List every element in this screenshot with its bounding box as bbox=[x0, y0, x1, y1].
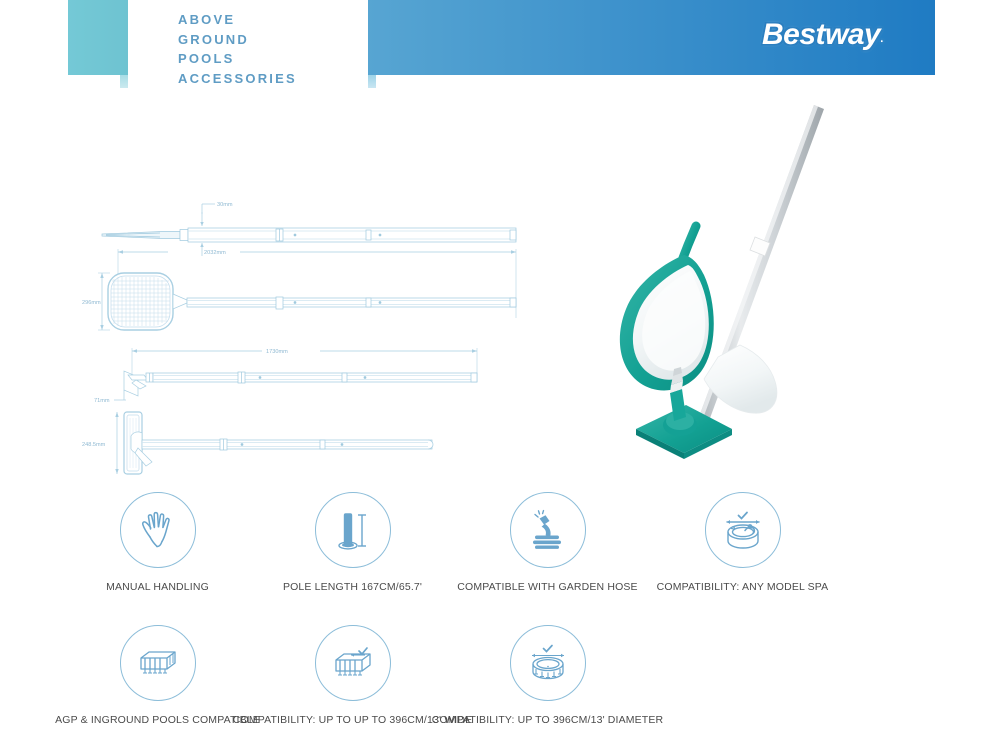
technical-drawings: 30mm 2032mm 296mm 1730mm 71mm 248.5mm bbox=[80, 190, 540, 475]
pole-length-icon bbox=[315, 492, 391, 568]
dim-label-71mm: 71mm bbox=[94, 398, 110, 404]
skimmer-net bbox=[620, 226, 714, 390]
feature-garden-hose: COMPATIBLE WITH GARDEN HOSE bbox=[450, 492, 645, 593]
hand-icon bbox=[120, 492, 196, 568]
rectangular-pool-width-icon bbox=[315, 625, 391, 701]
feature-caption: COMPATIBILITY: ANY MODEL SPA bbox=[657, 581, 829, 593]
title-line-2: GROUND bbox=[178, 30, 297, 50]
feature-caption: COMPATIBLE WITH GARDEN HOSE bbox=[457, 581, 637, 593]
drawing-vacuum-assembled bbox=[115, 412, 433, 474]
bestway-logo: Bestway. bbox=[762, 18, 912, 58]
product-spec-sheet: ABOVE GROUND POOLS ACCESSORIES Bestway. bbox=[0, 0, 1000, 750]
drawing-skimmer-folded bbox=[102, 204, 516, 256]
title-line-1: ABOVE bbox=[178, 10, 297, 30]
feature-pool-width: COMPATIBILITY: UP TO UP TO 396CM/13' WID… bbox=[255, 625, 450, 726]
feature-row-2: AGP & INGROUND POOLS COMPATIBLE bbox=[60, 625, 960, 726]
header-banner: ABOVE GROUND POOLS ACCESSORIES Bestway. bbox=[0, 0, 1000, 95]
title-line-4: ACCESSORIES bbox=[178, 69, 297, 89]
garden-hose-icon bbox=[510, 492, 586, 568]
feature-caption: AGP & INGROUND POOLS COMPATIBLE bbox=[55, 714, 260, 726]
feature-pool-diameter: COMPATIBILITY: UP TO 396CM/13' DIAMETER bbox=[450, 625, 645, 726]
product-photo bbox=[600, 95, 880, 485]
dim-label-30mm: 30mm bbox=[217, 202, 233, 208]
round-pool-diameter-icon bbox=[510, 625, 586, 701]
header-teal-band bbox=[68, 0, 128, 75]
feature-caption: POLE LENGTH 167CM/65.7' bbox=[283, 581, 422, 593]
bestway-logo-text: Bestway. bbox=[762, 18, 883, 51]
feature-pole-length: POLE LENGTH 167CM/65.7' bbox=[255, 492, 450, 593]
brand-word: Bestway bbox=[762, 18, 880, 51]
drawing-skimmer-assembled bbox=[98, 249, 516, 330]
feature-agp-inground: AGP & INGROUND POOLS COMPATIBLE bbox=[60, 625, 255, 726]
dim-label-296mm: 296mm bbox=[82, 300, 101, 306]
feature-spa-compatibility: COMPATIBILITY: ANY MODEL SPA bbox=[645, 492, 840, 593]
spa-tub-icon bbox=[705, 492, 781, 568]
feature-caption: MANUAL HANDLING bbox=[106, 581, 209, 593]
rectangular-pool-icon bbox=[120, 625, 196, 701]
feature-row-spacer bbox=[645, 625, 840, 726]
feature-caption: COMPATIBILITY: UP TO 396CM/13' DIAMETER bbox=[432, 714, 664, 726]
feature-grid: MANUAL HANDLING POLE bbox=[60, 492, 960, 726]
page-title: ABOVE GROUND POOLS ACCESSORIES bbox=[178, 10, 297, 88]
feature-manual-handling: MANUAL HANDLING bbox=[60, 492, 255, 593]
feature-row-1: MANUAL HANDLING POLE bbox=[60, 492, 960, 593]
drawing-vacuum-folded bbox=[114, 348, 477, 400]
header-blue-tab bbox=[368, 75, 376, 88]
dim-label-2032mm: 2032mm bbox=[204, 250, 226, 256]
dim-label-1730mm: 1730mm bbox=[266, 349, 288, 355]
dim-label-248-5mm: 248.5mm bbox=[82, 442, 106, 448]
registered-mark: . bbox=[880, 33, 883, 45]
title-line-3: POOLS bbox=[178, 49, 297, 69]
header-teal-tab bbox=[120, 75, 128, 88]
